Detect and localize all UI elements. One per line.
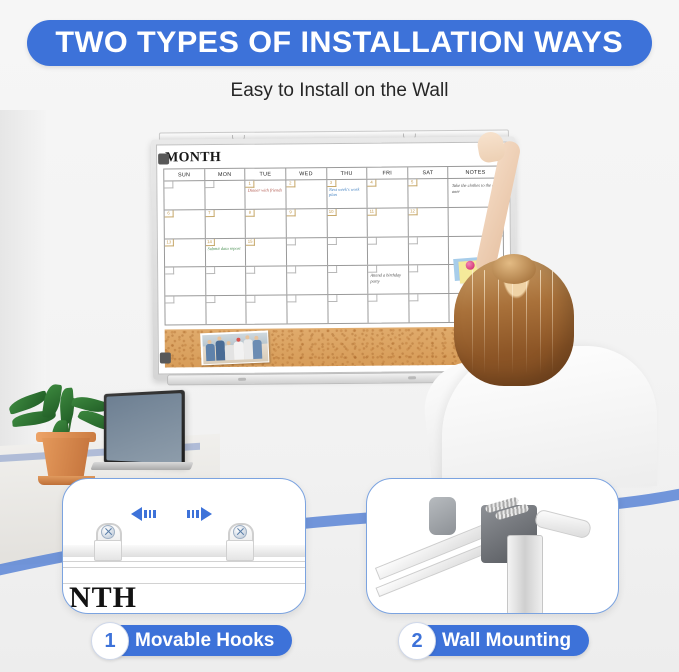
calendar-event: Next week's work plan [329, 187, 366, 198]
calendar-event: Attend a birthday party [370, 273, 407, 284]
date-number [205, 181, 214, 188]
date-number: 6 [165, 210, 174, 217]
date-number: 5 [408, 179, 417, 186]
date-number: 11 [368, 208, 377, 215]
calendar-cell[interactable] [164, 181, 205, 209]
calendar-event: Dinner with friends [248, 187, 285, 193]
date-number [247, 296, 256, 303]
calendar-event: Submit data report [208, 245, 245, 251]
calendar-cell[interactable]: 14Submit data report [205, 238, 246, 266]
tray-notch [408, 376, 416, 379]
day-header-wed: WED [286, 168, 327, 179]
label-wall-mounting: 2 Wall Mounting [412, 625, 589, 656]
calendar-cell[interactable]: 9 [287, 209, 328, 237]
photo-person [233, 341, 244, 359]
date-number: 10 [327, 209, 336, 216]
arrow-right-icon [187, 507, 212, 521]
person-installing-board [430, 150, 679, 480]
calendar-cell[interactable] [328, 295, 369, 323]
calendar-cell[interactable]: 3Next week's work plan [327, 180, 368, 208]
date-number [287, 238, 296, 245]
frame-corner [160, 352, 171, 363]
rail-line [63, 561, 305, 562]
photo-person [205, 343, 215, 360]
header-banner: TWO TYPES OF INSTALLATION WAYS [27, 20, 652, 66]
wall-anchor [429, 497, 456, 535]
arrow-left-icon [131, 507, 156, 521]
calendar-cell[interactable]: 11 [368, 208, 409, 236]
date-number [246, 267, 255, 274]
calendar-cell[interactable]: 13 [165, 239, 206, 267]
calendar-cell[interactable]: 10 [327, 209, 368, 237]
date-number [327, 238, 336, 245]
calendar-cell[interactable]: 1Dinner with friends [246, 180, 287, 208]
calendar-cell[interactable]: 15 [246, 238, 287, 266]
step-number-badge: 1 [91, 622, 129, 660]
calendar-cell[interactable] [287, 238, 328, 266]
date-number [328, 295, 337, 302]
panel-movable-hooks: NTH [62, 478, 306, 614]
date-number: 12 [408, 208, 417, 215]
tray-notch [238, 378, 246, 381]
day-header-fri: FRI [367, 167, 408, 178]
marketing-image: TWO TYPES OF INSTALLATION WAYS Easy to I… [0, 0, 679, 672]
photo-person [243, 339, 253, 359]
photo-person [215, 340, 225, 360]
date-number: 8 [246, 209, 255, 216]
calendar-cell[interactable] [206, 296, 247, 324]
calendar-cell[interactable] [165, 268, 206, 296]
calendar-cell[interactable] [368, 237, 409, 265]
movable-hook[interactable] [225, 523, 253, 559]
label-movable-hooks: 1 Movable Hooks [105, 625, 292, 656]
calendar-cell[interactable]: 6 [165, 210, 206, 238]
calendar-cell[interactable] [246, 267, 287, 295]
date-number [409, 237, 418, 244]
step-number-badge: 2 [398, 622, 436, 660]
day-header-thu: THU [327, 168, 368, 179]
day-header-sun: SUN [164, 169, 205, 180]
calendar-cell[interactable] [287, 266, 328, 294]
date-number [368, 266, 377, 273]
rail-line [63, 567, 305, 568]
date-number [287, 267, 296, 274]
laptop-display [106, 393, 181, 464]
calendar-cell[interactable] [369, 295, 410, 323]
laptop-screen [104, 390, 185, 467]
calendar-cell[interactable]: 7 [205, 210, 246, 238]
header-subtitle: Easy to Install on the Wall [0, 80, 679, 102]
date-number: 13 [165, 239, 174, 246]
photo-person [224, 344, 234, 359]
date-number [409, 294, 418, 301]
banner-title: TWO TYPES OF INSTALLATION WAYS [56, 26, 624, 60]
date-number [164, 181, 173, 188]
calendar-cell[interactable] [327, 237, 368, 265]
panel-wall-mounting [366, 478, 619, 614]
photo-person [252, 339, 262, 358]
screw-icon [233, 525, 247, 539]
screw-icon [101, 525, 115, 539]
date-number: 2 [286, 180, 295, 187]
label-text: Movable Hooks [135, 630, 274, 652]
date-number: 15 [246, 238, 255, 245]
date-number: 4 [368, 180, 377, 187]
calendar-cell[interactable]: 4 [368, 179, 409, 207]
calendar-cell[interactable] [206, 267, 247, 295]
date-number [369, 295, 378, 302]
calendar-cell[interactable] [165, 296, 206, 324]
mounting-screw-body [534, 508, 593, 539]
movable-hook[interactable] [93, 523, 121, 559]
day-header-mon: MON [205, 169, 246, 180]
calendar-cell[interactable] [287, 295, 328, 323]
family-photo[interactable] [200, 330, 269, 365]
partial-month-text: NTH [69, 581, 137, 614]
label-text: Wall Mounting [442, 630, 571, 652]
frame-corner [158, 153, 169, 164]
date-number [206, 267, 215, 274]
day-header-tue: TUE [246, 168, 287, 179]
laptop-base [90, 462, 193, 470]
calendar-cell[interactable]: 2 [286, 180, 327, 208]
calendar-cell[interactable]: Attend a birthday party [368, 266, 409, 294]
date-number [287, 296, 296, 303]
photo-image [202, 332, 268, 364]
calendar-cell[interactable]: 8 [246, 209, 287, 237]
date-number [165, 297, 174, 304]
calendar-cell[interactable] [247, 296, 288, 324]
calendar-cell[interactable] [328, 266, 369, 294]
hair-bun [492, 254, 536, 284]
date-number [368, 237, 377, 244]
date-number [328, 266, 337, 273]
date-number: 9 [287, 209, 296, 216]
date-number [206, 296, 215, 303]
date-number [165, 268, 174, 275]
date-number [409, 266, 418, 273]
frame-post [507, 535, 543, 614]
calendar-cell[interactable] [205, 181, 246, 209]
date-number: 7 [205, 210, 214, 217]
